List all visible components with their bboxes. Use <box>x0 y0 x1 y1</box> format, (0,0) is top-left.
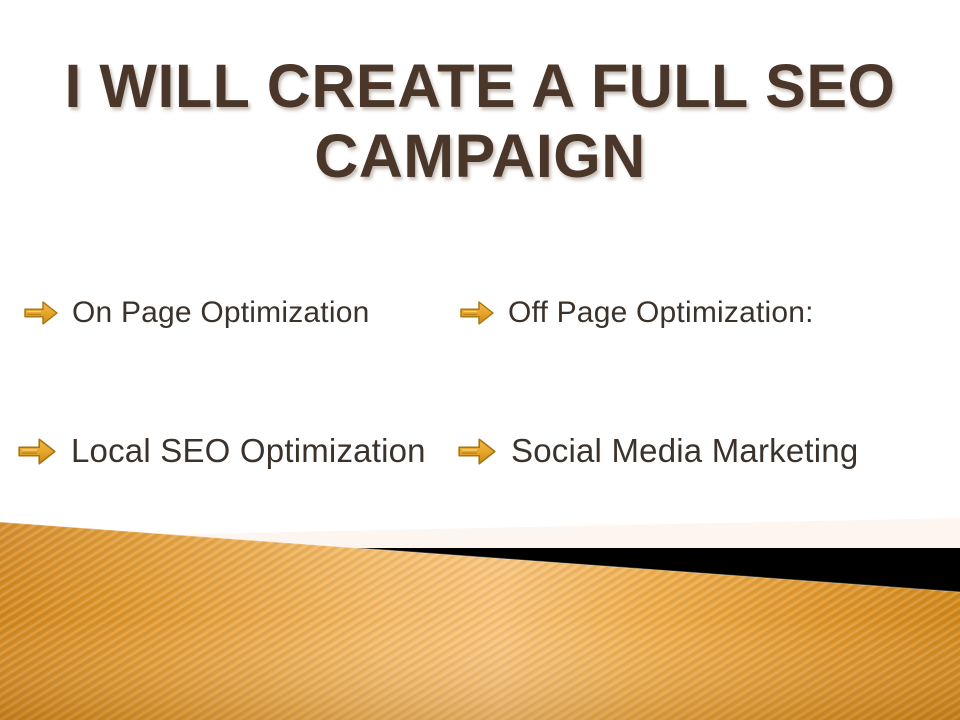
bullet-row: On Page Optimization Off Page Optimizati… <box>0 296 960 330</box>
title-line-1: I WILL CREATE A FULL SEO <box>0 52 960 122</box>
bullet-item-local-seo-optimization[interactable]: Local SEO Optimization <box>0 432 452 470</box>
title-line-2: CAMPAIGN <box>0 122 960 192</box>
slide-canvas: I WILL CREATE A FULL SEO CAMPAIGN <box>0 0 960 720</box>
footer-banner-svg <box>0 496 960 720</box>
bullet-item-off-page-optimization[interactable]: Off Page Optimization: <box>452 296 960 330</box>
arrow-right-icon <box>458 437 496 466</box>
bullet-item-social-media-marketing[interactable]: Social Media Marketing <box>452 432 960 470</box>
page-title: I WILL CREATE A FULL SEO CAMPAIGN <box>0 52 960 191</box>
bullet-label: On Page Optimization <box>72 296 369 330</box>
bullet-row: Local SEO Optimization Social Media Mark… <box>0 432 960 470</box>
arrow-right-icon <box>460 300 494 326</box>
bullet-label: Social Media Marketing <box>511 432 858 470</box>
bullet-label: Off Page Optimization: <box>508 296 814 330</box>
arrow-right-icon <box>18 437 56 466</box>
arrow-right-icon <box>24 300 58 326</box>
bullet-item-on-page-optimization[interactable]: On Page Optimization <box>0 296 452 330</box>
bullet-label: Local SEO Optimization <box>71 432 426 470</box>
footer-banner-decoration <box>0 496 960 720</box>
bullet-list: On Page Optimization Off Page Optimizati… <box>0 296 960 516</box>
